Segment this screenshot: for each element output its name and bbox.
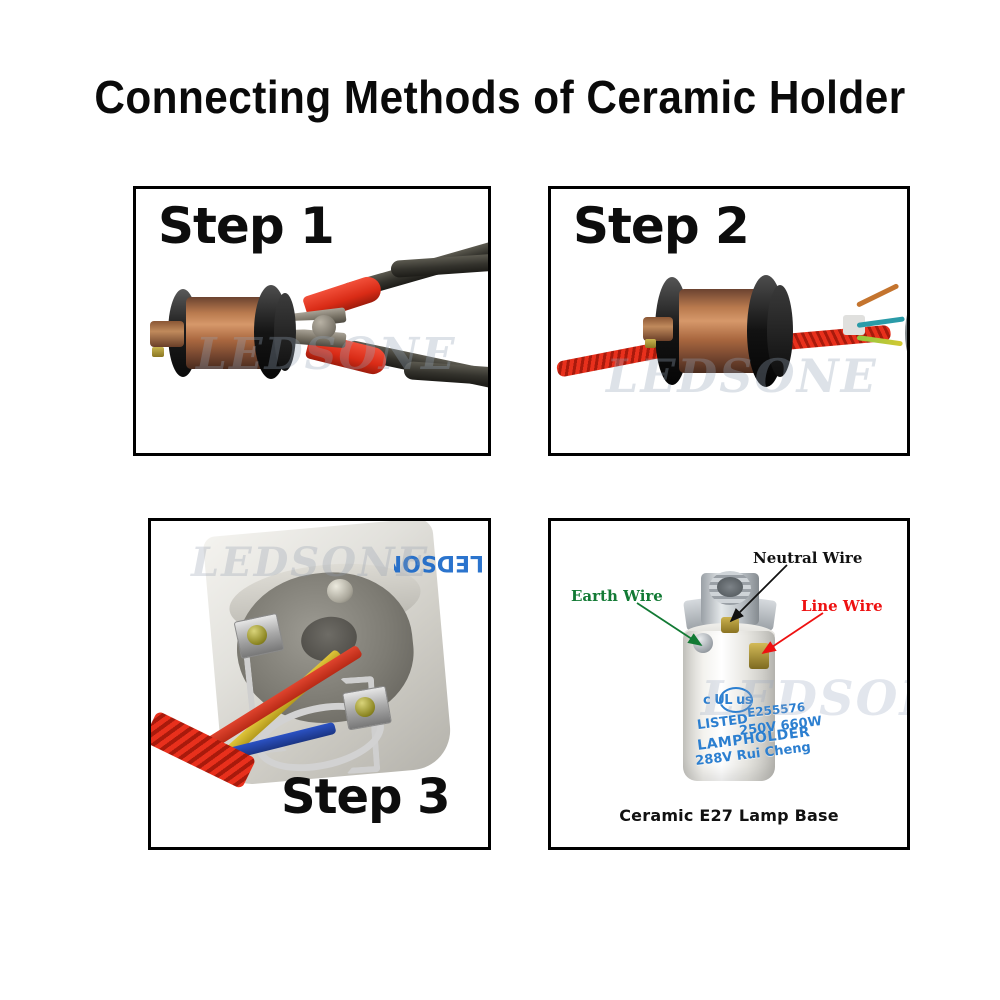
line-terminal — [749, 643, 769, 669]
neutral-terminal — [721, 617, 739, 633]
earth-terminal — [693, 633, 713, 653]
infographic-page: Connecting Methods of Ceramic Holder — [0, 0, 1000, 1000]
plier-handle-lower-tip — [403, 361, 488, 387]
plier-pivot — [312, 315, 336, 339]
terminal-screw-right — [355, 697, 375, 717]
holder-brass-screw — [152, 347, 164, 357]
step-3-photo: LEDSONE LEDSONE Step 3 — [151, 521, 488, 847]
holder-rubber-ring-outer — [274, 293, 296, 371]
step-panel-1: LEDSONE Step 1 — [133, 186, 491, 456]
holder-cable-entry — [643, 317, 673, 341]
printed-brand-text: LEDSONE — [394, 525, 484, 575]
terminal-screw-left — [247, 625, 267, 645]
neutral-wire-label: Neutral Wire — [753, 549, 862, 567]
step-2-photo: LEDSONE Step 2 — [551, 189, 907, 453]
lamp-base-illustration: c UL us E255576 LISTED 250V 660W LAMPHOL… — [551, 521, 907, 847]
step-2-label: Step 2 — [573, 197, 749, 255]
step-1-photo: LEDSONE Step 1 — [136, 189, 488, 453]
page-title: Connecting Methods of Ceramic Holder — [40, 70, 960, 124]
earth-wire-label: Earth Wire — [571, 587, 663, 605]
step-panel-3: LEDSONE LEDSONE Step 3 — [148, 518, 491, 850]
step-1-label: Step 1 — [158, 197, 334, 255]
line-wire-label: Line Wire — [801, 597, 883, 615]
step-3-label: Step 3 — [281, 769, 450, 825]
terminal-screw-top — [327, 579, 353, 603]
panel-caption: Ceramic E27 Lamp Base — [551, 806, 907, 825]
threaded-collar-hole — [717, 577, 743, 597]
holder-brass-screw — [645, 339, 656, 348]
brown-live-lead — [856, 283, 900, 308]
diagram-panel-4: c UL us E255576 LISTED 250V 660W LAMPHOL… — [548, 518, 910, 850]
lamp-base-diagram: c UL us E255576 LISTED 250V 660W LAMPHOL… — [551, 521, 907, 847]
holder-rubber-ring-outer — [767, 285, 793, 377]
holder-cable-entry — [150, 321, 184, 347]
ul-mark-text: c UL us — [703, 693, 752, 708]
step-panel-2: LEDSONE Step 2 — [548, 186, 910, 456]
